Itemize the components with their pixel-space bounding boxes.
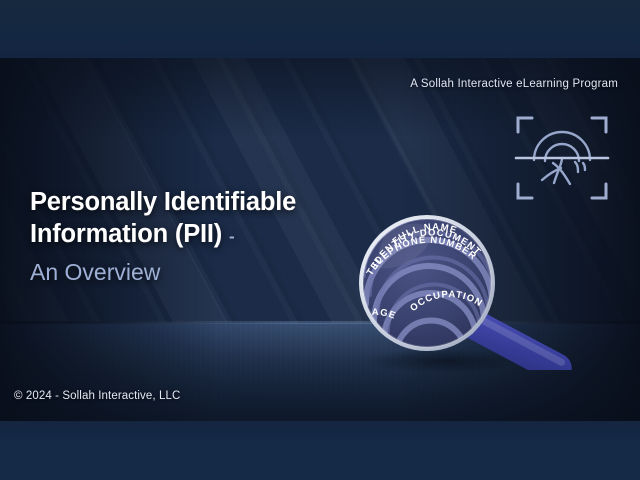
- page-title: Personally IdentifiableInformation (PII)…: [30, 186, 296, 253]
- copyright-notice: © 2024 - Sollah Interactive, LLC: [14, 390, 180, 402]
- title-block: Personally IdentifiableInformation (PII)…: [30, 186, 296, 287]
- title-dash: -: [229, 227, 234, 246]
- title-line-2: Information (PII): [30, 220, 222, 248]
- fingerprint-scan-icon: [512, 108, 612, 208]
- title-line-1: Personally Identifiable: [30, 188, 296, 216]
- program-tagline: A Sollah Interactive eLearning Program: [410, 78, 618, 90]
- magnifying-glass-icon: FULL NAME IDENTITY DOCUMENT TELEPHONE NU…: [352, 210, 602, 370]
- top-band: [0, 0, 640, 58]
- slide-canvas: FULL NAME IDENTITY DOCUMENT TELEPHONE NU…: [0, 0, 640, 480]
- bottom-band: [0, 421, 640, 480]
- page-subtitle: An Overview: [30, 257, 296, 287]
